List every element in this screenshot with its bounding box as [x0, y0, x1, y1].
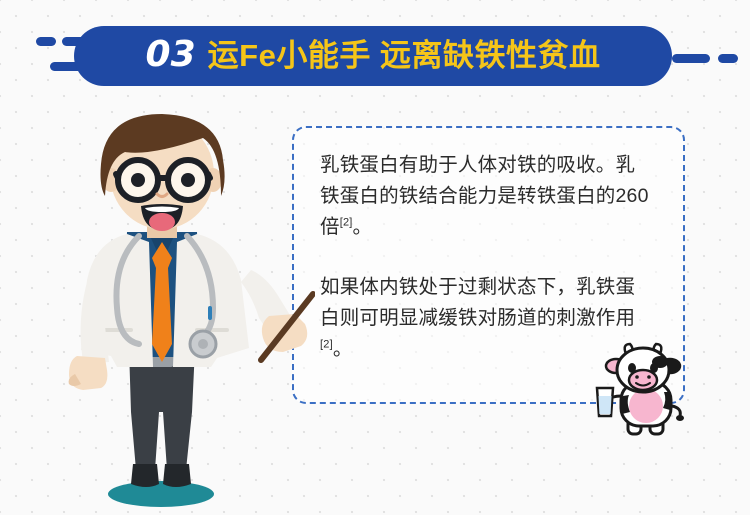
stethoscope-diaphragm: [198, 339, 208, 349]
cow-illustration: [588, 338, 698, 438]
section-title: 运Fe小能手 远离缺铁性贫血: [208, 40, 601, 71]
banner-zone: 03 运Fe小能手 远离缺铁性贫血: [0, 26, 750, 86]
eye-right: [181, 173, 195, 187]
paragraph-1: 乳铁蛋白有助于人体对铁的吸收。乳铁蛋白的铁结合能力是转铁蛋白的260倍[2]。: [320, 150, 650, 243]
eye-left: [131, 173, 145, 187]
cow-tail-tuft: [676, 415, 684, 421]
cow-nostril-right: [647, 375, 651, 379]
paragraph-2-tail: 。: [333, 338, 353, 360]
banner-dash-right-a: [672, 54, 710, 63]
section-banner: 03 运Fe小能手 远离缺铁性贫血: [74, 26, 672, 86]
info-card-body: 乳铁蛋白有助于人体对铁的吸收。乳铁蛋白的铁结合能力是转铁蛋白的260倍[2]。 …: [320, 150, 650, 365]
glasses-temple-right: [208, 174, 210, 178]
doctor-illustration: [55, 112, 315, 512]
cow-tail: [672, 406, 680, 416]
stethoscope-clip: [208, 306, 212, 320]
ground-shadow: [108, 481, 214, 507]
section-number: 03: [146, 37, 196, 73]
shoe-right: [163, 464, 191, 487]
shoe-left: [131, 464, 159, 487]
paragraph-1-tail: 。: [353, 216, 373, 238]
milk-liquid: [599, 396, 612, 414]
tongue: [149, 213, 175, 231]
banner-dash-left-a: [36, 37, 56, 46]
paragraph-1-citation: [2]: [340, 217, 353, 229]
paragraph-2-text: 如果体内铁处于过剩状态下，乳铁蛋白则可明显减缓铁对肠道的刺激作用: [320, 276, 635, 329]
poster-canvas: 03 运Fe小能手 远离缺铁性贫血 乳铁蛋白有助于人体对铁的吸收。乳铁蛋白的铁结…: [0, 0, 750, 515]
cow-belly: [629, 389, 663, 423]
banner-dash-right-b: [718, 54, 738, 63]
cow-nostril-left: [635, 375, 639, 379]
glasses-temple-left: [116, 174, 118, 178]
paragraph-2-citation: [2]: [320, 339, 333, 351]
necktie: [152, 242, 172, 362]
cow-snout: [629, 370, 657, 390]
